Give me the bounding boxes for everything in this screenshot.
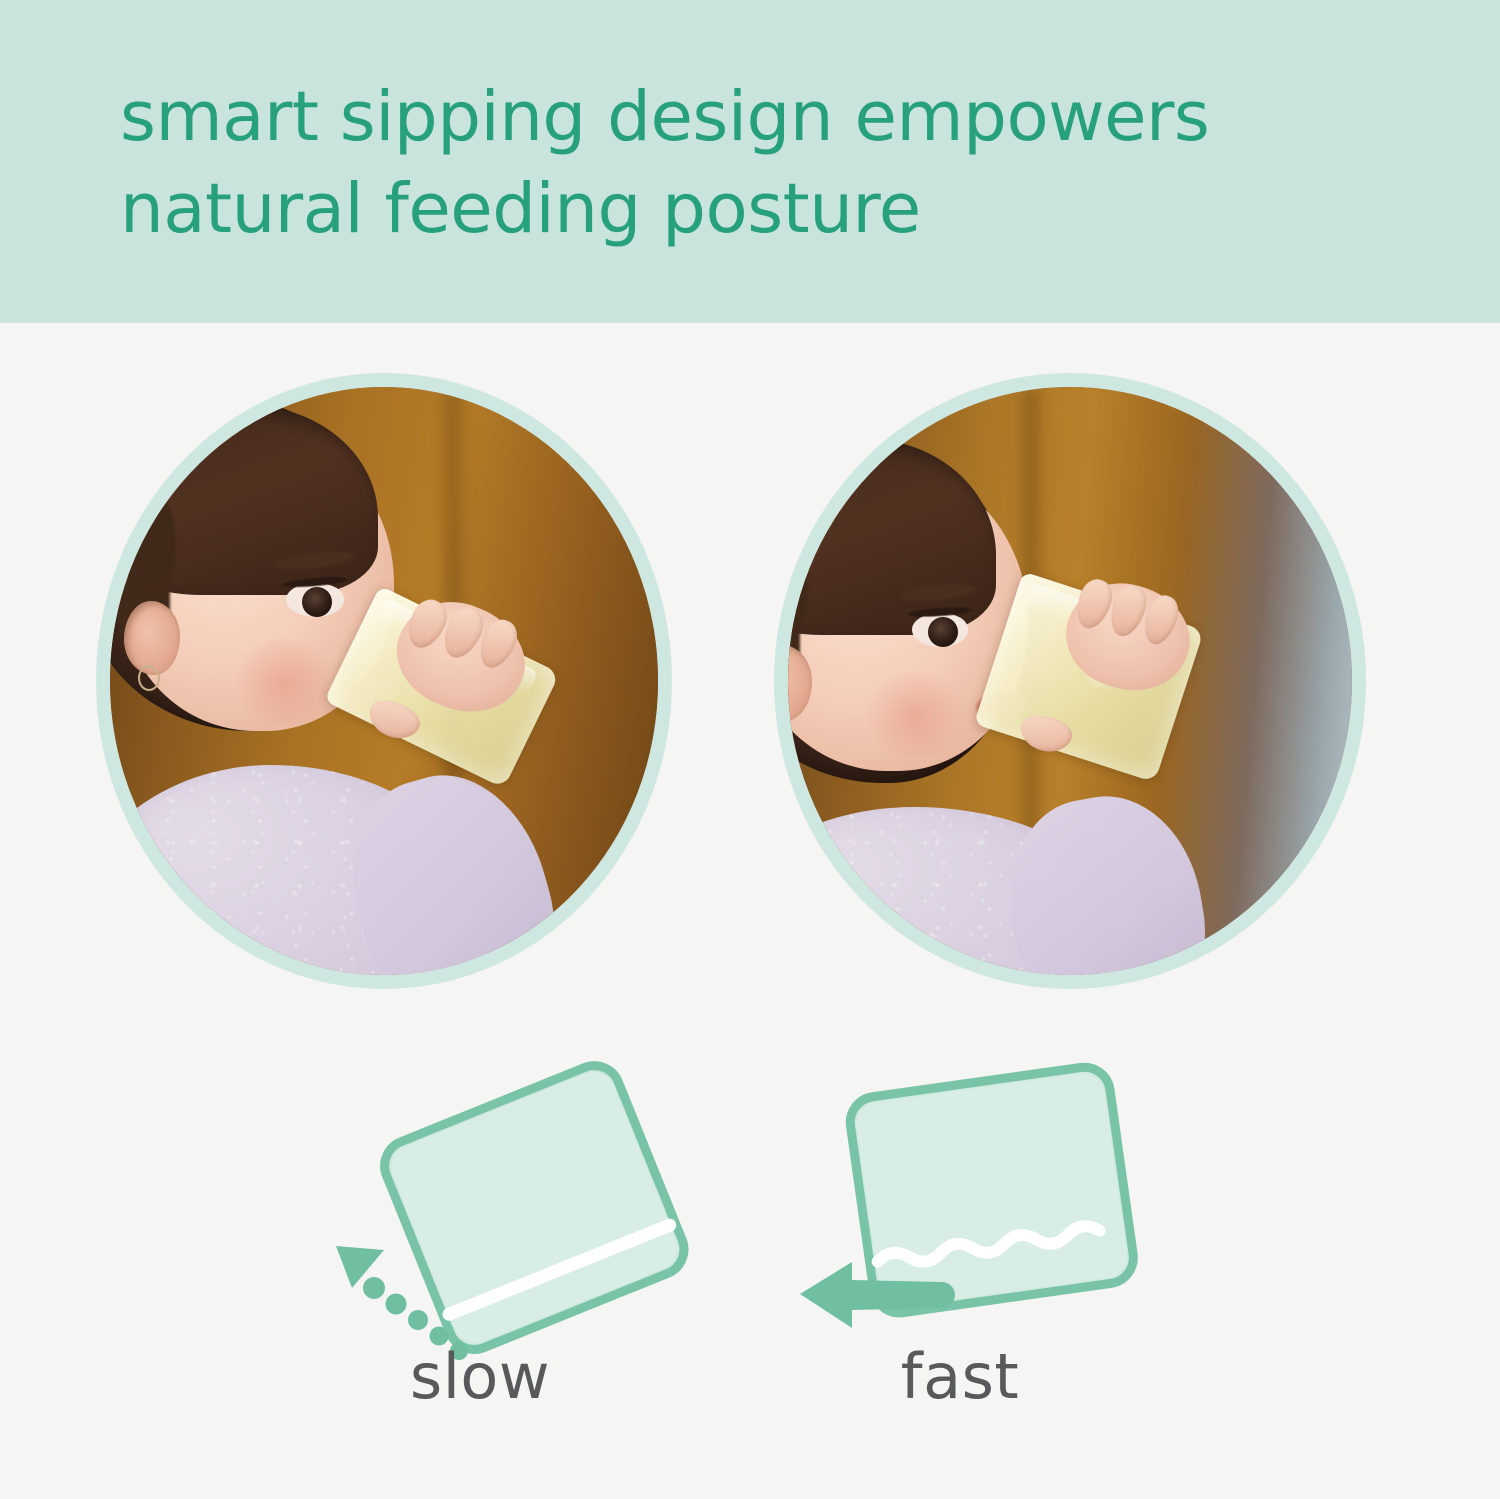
hair-wisp	[136, 495, 176, 591]
slow-arrow-dot	[363, 1277, 385, 1299]
ear	[124, 601, 180, 675]
fast-bottle-group	[847, 1064, 1137, 1316]
eye	[302, 587, 332, 617]
photo-slow-posture	[96, 373, 672, 989]
slow-bottle-inner-sheen	[385, 1066, 684, 1350]
caption-fast: fast	[790, 1340, 1130, 1413]
cheek	[230, 639, 338, 725]
photo-fast-inner	[788, 387, 1352, 975]
photo-fast-posture	[774, 373, 1366, 989]
slow-arrow-dot	[386, 1294, 407, 1315]
diagram-slow	[300, 1040, 720, 1370]
photo-comparison-row	[0, 0, 1500, 1020]
eye	[928, 617, 958, 647]
diagram-fast-svg	[790, 1048, 1170, 1348]
infographic-page: smart sipping design empowers natural fe…	[0, 0, 1500, 1499]
caption-slow: slow	[310, 1340, 650, 1413]
bottle-diagram-row	[0, 1020, 1500, 1499]
arm	[993, 782, 1220, 975]
fast-bottle-inner-sheen	[854, 1071, 1130, 1310]
baby-figure-slow	[110, 387, 658, 975]
earring	[138, 665, 160, 691]
baby-figure-fast	[788, 387, 1352, 975]
slow-arrow-dot	[408, 1310, 428, 1330]
hair-top	[788, 439, 996, 635]
diagram-slow-svg	[300, 1040, 720, 1370]
cheek	[862, 673, 968, 759]
photo-slow-inner	[110, 387, 658, 975]
diagram-fast	[790, 1048, 1170, 1348]
